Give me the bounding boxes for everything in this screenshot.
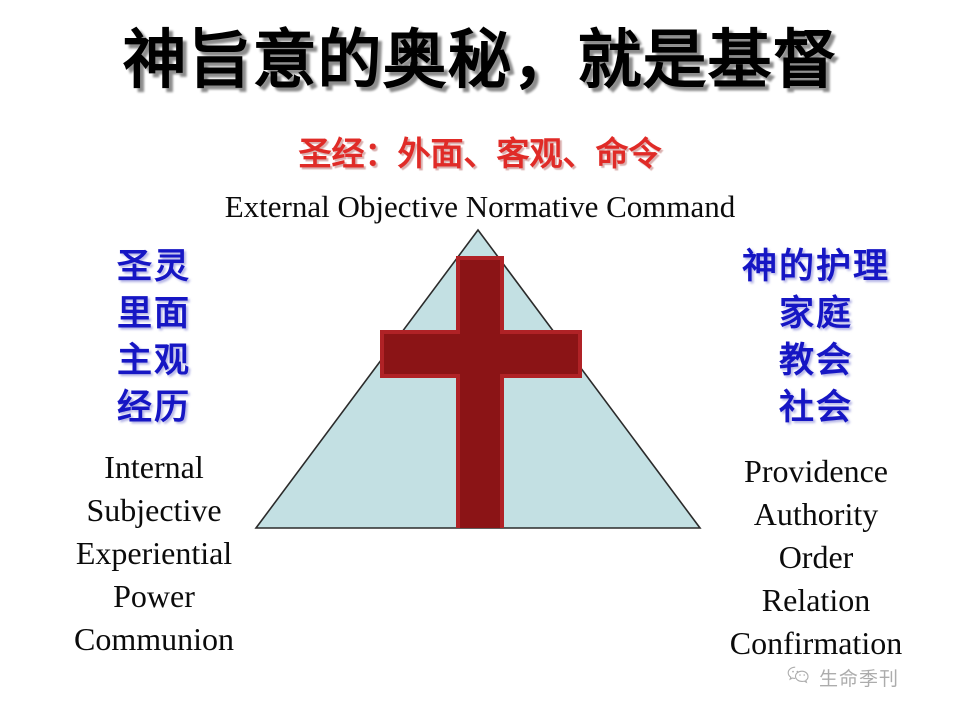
right-english-line: Confirmation [672, 622, 960, 665]
right-english-line: Authority [672, 493, 960, 536]
right-english-line: Providence [672, 450, 960, 493]
right-column: 神的护理 家庭 教会 社会 Providence Authority Order… [672, 244, 960, 665]
left-english-line: Internal [18, 446, 290, 489]
right-chinese-list: 神的护理 家庭 教会 社会 [672, 244, 960, 432]
left-chinese-line: 里面 [18, 291, 290, 338]
triangle-cross-diagram [240, 222, 720, 538]
left-column: 圣灵 里面 主观 经历 Internal Subjective Experien… [18, 244, 290, 661]
slide-canvas: 神旨意的奥秘，就是基督 圣经：外面、客观、命令 External Objecti… [0, 0, 960, 720]
wechat-icon [786, 665, 812, 690]
left-english-line: Communion [18, 618, 290, 661]
top-label-chinese: 圣经：外面、客观、命令 [0, 134, 960, 174]
top-label-english: External Objective Normative Command [0, 188, 960, 226]
left-chinese-line: 主观 [18, 338, 290, 385]
right-english-line: Order [672, 536, 960, 579]
left-chinese-line: 经历 [18, 385, 290, 432]
left-chinese-list: 圣灵 里面 主观 经历 [18, 244, 290, 432]
left-english-line: Power [18, 575, 290, 618]
right-english-line: Relation [672, 579, 960, 622]
right-english-list: Providence Authority Order Relation Conf… [672, 450, 960, 665]
page-title: 神旨意的奥秘，就是基督 [0, 22, 960, 100]
right-chinese-line: 社会 [672, 385, 960, 432]
right-chinese-line: 神的护理 [672, 244, 960, 291]
right-chinese-line: 教会 [672, 338, 960, 385]
watermark: 生命季刊 [786, 664, 899, 691]
left-english-line: Experiential [18, 532, 290, 575]
left-chinese-line: 圣灵 [18, 244, 290, 291]
left-english-list: Internal Subjective Experiential Power C… [18, 446, 290, 661]
watermark-text: 生命季刊 [819, 664, 899, 691]
left-english-line: Subjective [18, 489, 290, 532]
right-chinese-line: 家庭 [672, 291, 960, 338]
